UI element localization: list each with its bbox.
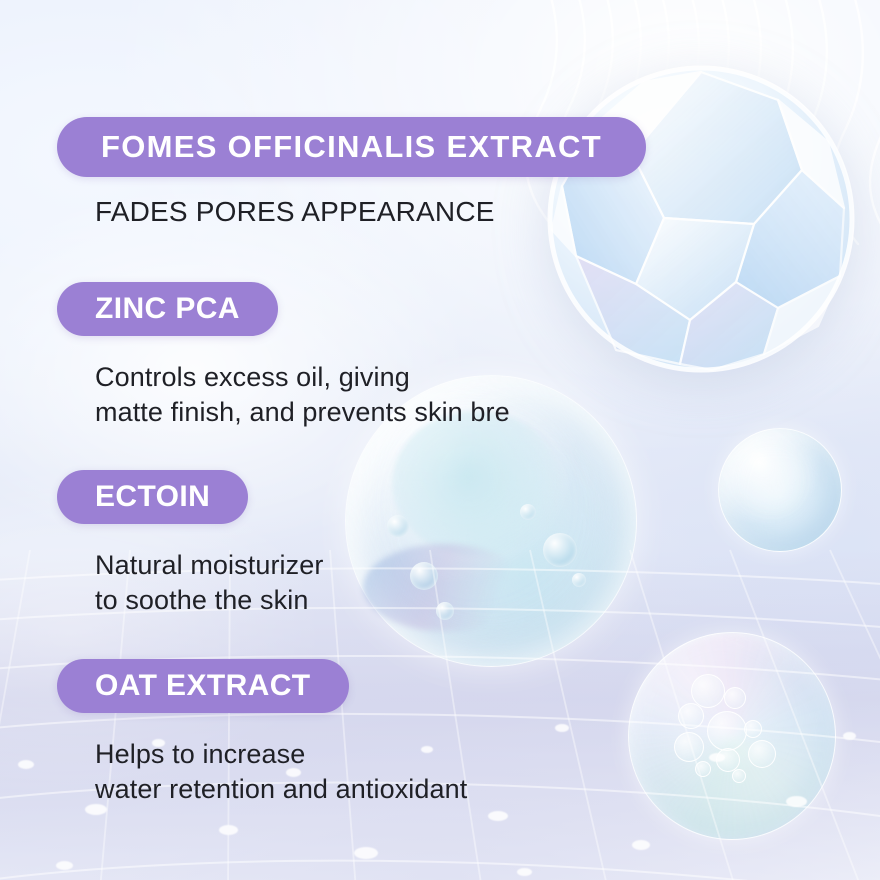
ingredient-name-oat-extract: OAT EXTRACT <box>57 659 349 713</box>
ingredient-description-zinc-pca: Controls excess oil, giving matte finish… <box>95 360 510 429</box>
ingredient-name-ectoin: ECTOIN <box>57 470 248 524</box>
ingredient-name-zinc-pca: ZINC PCA <box>57 282 278 336</box>
ingredient-description-ectoin: Natural moisturizer to soothe the skin <box>95 548 323 617</box>
ingredient-list: FOMES OFFICINALIS EXTRACT FADES PORES AP… <box>0 0 880 880</box>
ingredient-description-oat-extract: Helps to increase water retention and an… <box>95 737 467 806</box>
ingredient-infographic: FOMES OFFICINALIS EXTRACT FADES PORES AP… <box>0 0 880 880</box>
ingredient-description-fomes-officinalis-extract: FADES PORES APPEARANCE <box>95 194 495 230</box>
ingredient-name-fomes-officinalis-extract: FOMES OFFICINALIS EXTRACT <box>57 117 646 177</box>
